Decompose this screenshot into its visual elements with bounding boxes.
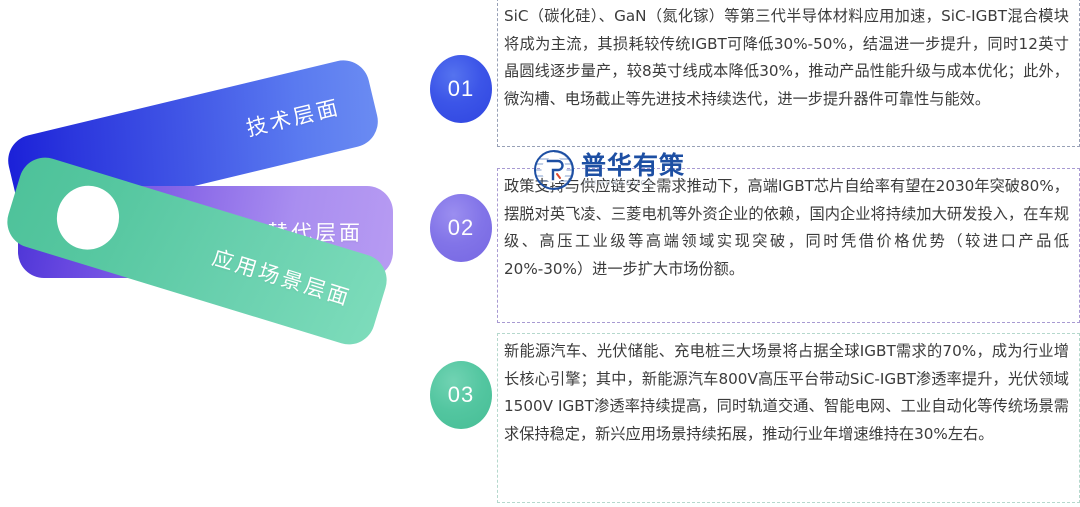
content-row-3: 03 新能源汽车、光伏储能、充电桩三大场景将占据全球IGBT需求的70%，成为行…	[418, 333, 1080, 505]
content-row-2: 02 政策支持与供应链安全需求推动下，高端IGBT芯片自给率有望在2030年突破…	[418, 168, 1080, 324]
paragraph-1: SiC（碳化硅）、GaN（氮化镓）等第三代半导体材料应用加速，SiC-IGBT混…	[504, 3, 1069, 113]
content-row-1: 01 SiC（碳化硅）、GaN（氮化镓）等第三代半导体材料应用加速，SiC-IG…	[418, 0, 1080, 148]
text-box-2: 政策支持与供应链安全需求推动下，高端IGBT芯片自给率有望在2030年突破80%…	[497, 168, 1080, 323]
infographic-page: 技术层面 国产替代层面 应用场景层面 01 SiC（碳化硅）、GaN（氮化镓）等…	[0, 0, 1080, 507]
paragraph-3: 新能源汽车、光伏储能、充电桩三大场景将占据全球IGBT需求的70%，成为行业增长…	[504, 338, 1069, 448]
paragraph-2: 政策支持与供应链安全需求推动下，高端IGBT芯片自给率有望在2030年突破80%…	[504, 173, 1069, 283]
text-box-3: 新能源汽车、光伏储能、充电桩三大场景将占据全球IGBT需求的70%，成为行业增长…	[497, 333, 1080, 503]
step-number-badge-03: 03	[430, 361, 492, 429]
circle-cutout-icon	[49, 178, 127, 257]
layered-bars-graphic: 技术层面 国产替代层面 应用场景层面	[0, 0, 470, 507]
bar-scene-label: 应用场景层面	[209, 242, 355, 313]
text-box-1: SiC（碳化硅）、GaN（氮化镓）等第三代半导体材料应用加速，SiC-IGBT混…	[497, 0, 1080, 147]
step-number-badge-02: 02	[430, 194, 492, 262]
content-column: 01 SiC（碳化硅）、GaN（氮化镓）等第三代半导体材料应用加速，SiC-IG…	[418, 0, 1080, 507]
bar-tech-label: 技术层面	[243, 91, 343, 143]
step-number-badge-01: 01	[430, 55, 492, 123]
